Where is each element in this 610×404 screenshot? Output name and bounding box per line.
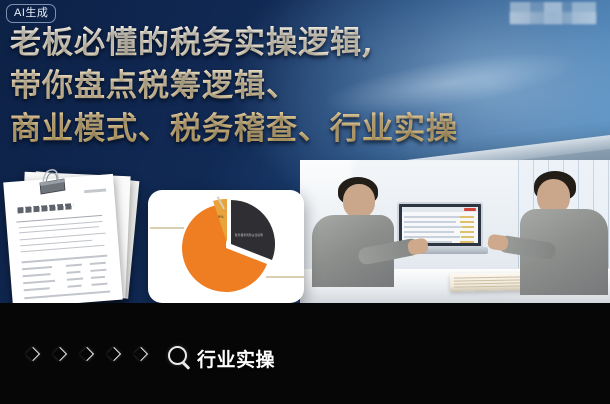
document-title-text	[17, 203, 73, 213]
headline-line-3: 商业模式、税务稽查、行业实操	[10, 108, 458, 151]
person-left-hand	[407, 237, 429, 255]
person-left	[300, 175, 426, 295]
ai-generated-badge: AI生成	[6, 4, 56, 23]
pie-slice-tan-label: 9%	[218, 214, 224, 219]
person-right-hand	[487, 234, 509, 252]
handshake-business-photo	[300, 160, 610, 305]
pie-slice-dark	[231, 200, 275, 260]
document-corner-mark	[84, 188, 106, 193]
search-tag[interactable]: 行业实操	[168, 345, 275, 372]
page-title: 老板必懂的税务实操逻辑, 带你盘点税筹逻辑、 商业模式、税务稽查、行业实操	[10, 22, 458, 151]
chevron-right-icon-2	[55, 348, 66, 367]
binder-clip-icon	[36, 168, 68, 196]
headline-line-1: 老板必懂的税务实操逻辑,	[10, 22, 458, 65]
document-line-5	[21, 245, 105, 253]
pie-chart: 税务稽查风险占比说明 9%	[174, 196, 278, 296]
pie-chart-card: 税务稽查风险占比说明 9%	[148, 190, 304, 303]
pie-leader-line-right	[266, 276, 304, 278]
chevron-right-icon-4	[109, 348, 120, 367]
pie-slice-dark-label: 税务稽查风险占比说明	[226, 234, 272, 237]
poster-root: AI生成 老板必懂的税务实操逻辑, 带你盘点税筹逻辑、 商业模式、税务稽查、行业…	[0, 0, 610, 404]
chevron-right-icon-3	[82, 348, 93, 367]
laptop-ui-accent-button	[464, 208, 476, 211]
pie-leader-line-left	[150, 227, 184, 229]
bottom-bar: 行业实操	[0, 303, 610, 404]
document-stack	[0, 168, 142, 306]
pie-chart-svg	[174, 196, 278, 296]
chevron-right-icon-1	[28, 348, 39, 367]
person-left-head	[343, 184, 375, 218]
document-line-3	[20, 233, 106, 241]
person-right	[486, 171, 610, 301]
document-table	[21, 255, 110, 302]
search-icon-handle	[182, 361, 190, 369]
chevron-arrow-group	[28, 348, 147, 367]
watermark-pixelated-row2	[510, 12, 596, 24]
search-tag-label: 行业实操	[197, 345, 275, 372]
search-icon	[168, 346, 194, 372]
chevron-right-icon-5	[136, 348, 147, 367]
headline-line-2: 带你盘点税筹逻辑、	[10, 65, 458, 108]
